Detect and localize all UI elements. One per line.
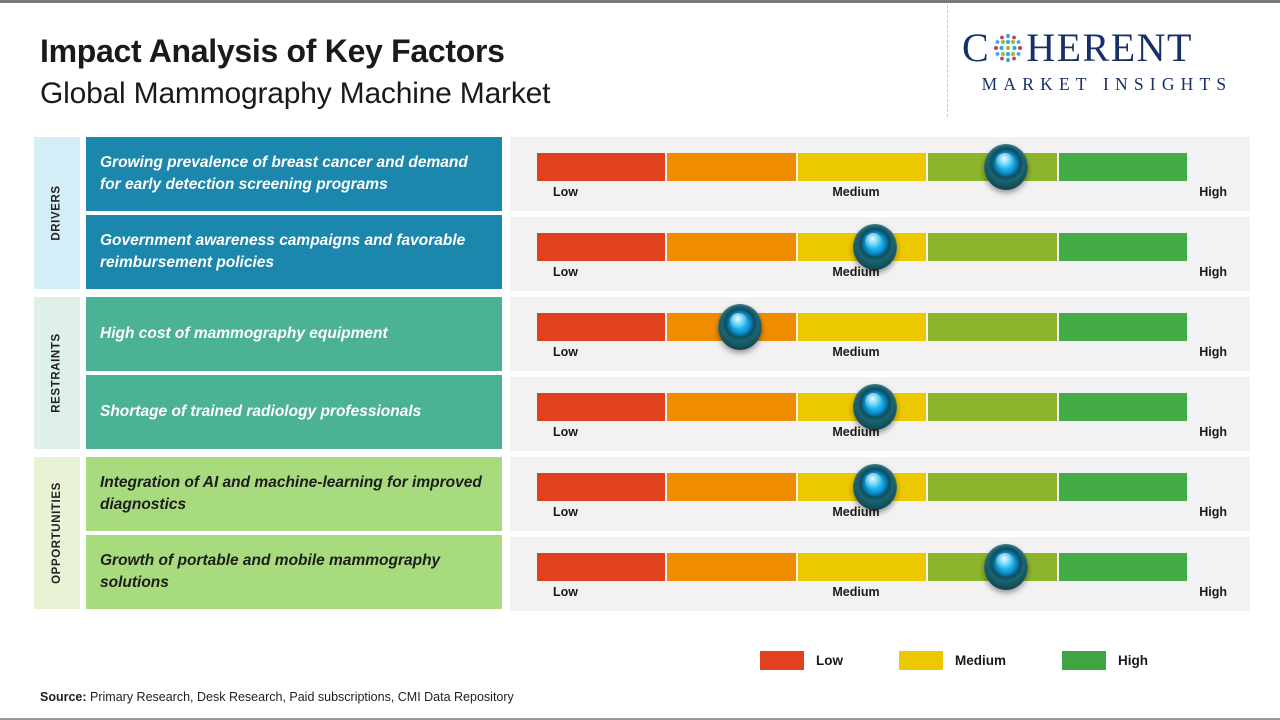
scale-label-high: High xyxy=(1199,345,1227,359)
gauge-segment-medium-high xyxy=(928,473,1058,501)
category-label-opportunities: OPPORTUNITIES xyxy=(51,482,63,584)
gauge-segment-medium-high xyxy=(928,393,1058,421)
factor-box: High cost of mammography equipment xyxy=(86,297,502,371)
gauge-segment-low xyxy=(537,233,667,261)
category-rail-opportunities: OPPORTUNITIES xyxy=(34,457,80,609)
logo-wordmark: C xyxy=(962,25,1262,71)
legend-item-high: High xyxy=(1062,651,1148,670)
category-label-drivers: DRIVERS xyxy=(51,185,63,240)
scale-label-high: High xyxy=(1199,185,1227,199)
gauge-segment-low-medium xyxy=(667,393,797,421)
gauge-scale-labels: Low Medium High xyxy=(537,505,1227,523)
scale-label-high: High xyxy=(1199,425,1227,439)
source-label: Source: xyxy=(40,690,87,704)
header: Impact Analysis of Key Factors Global Ma… xyxy=(0,3,1280,131)
scale-label-medium: Medium xyxy=(511,185,1201,199)
legend-swatch-medium xyxy=(899,651,943,670)
legend-item-low: Low xyxy=(760,651,843,670)
gauge-marker[interactable] xyxy=(853,464,897,510)
source-text: Primary Research, Desk Research, Paid su… xyxy=(87,690,514,704)
gauge-segment-low xyxy=(537,553,667,581)
gauge-segment-high xyxy=(1059,393,1187,421)
infographic-page: Impact Analysis of Key Factors Global Ma… xyxy=(0,0,1280,720)
category-label-restraints: RESTRAINTS xyxy=(51,333,63,412)
header-dashed-divider xyxy=(947,5,948,117)
gauge-segment-medium xyxy=(798,313,928,341)
gauge-marker[interactable] xyxy=(984,144,1028,190)
factor-text: Government awareness campaigns and favor… xyxy=(100,230,488,275)
impact-gauge-row: Low Medium High xyxy=(510,377,1250,451)
gauge-bar xyxy=(537,313,1187,341)
gauge-segment-low xyxy=(537,313,667,341)
legend-label-low: Low xyxy=(816,653,843,668)
scale-label-medium: Medium xyxy=(511,425,1201,439)
logo-tagline: MARKET INSIGHTS xyxy=(962,74,1252,95)
category-rail-restraints: RESTRAINTS xyxy=(34,297,80,449)
gauge-segment-medium-high xyxy=(928,233,1058,261)
factor-text: Growing prevalence of breast cancer and … xyxy=(100,152,488,197)
gauge-segment-low xyxy=(537,473,667,501)
gauge-segment-high xyxy=(1059,553,1187,581)
gauge-scale-labels: Low Medium High xyxy=(537,185,1227,203)
logo-word-right: HERENT xyxy=(1026,28,1193,68)
impact-gauge-row: Low Medium High xyxy=(510,137,1250,211)
globe-dots-icon xyxy=(991,31,1025,65)
legend: Low Medium High xyxy=(760,645,1210,675)
gauge-segment-high xyxy=(1059,233,1187,261)
gauge-segment-low-medium xyxy=(667,233,797,261)
scale-label-medium: Medium xyxy=(511,585,1201,599)
scale-label-medium: Medium xyxy=(511,505,1201,519)
gauge-segment-medium xyxy=(798,553,928,581)
page-title: Impact Analysis of Key Factors xyxy=(40,33,550,71)
scale-label-high: High xyxy=(1199,585,1227,599)
factor-text: Shortage of trained radiology profession… xyxy=(100,401,421,423)
legend-item-medium: Medium xyxy=(899,651,1006,670)
factor-text: Integration of AI and machine-learning f… xyxy=(100,472,488,517)
impact-gauge-row: Low Medium High xyxy=(510,457,1250,531)
gauge-segment-high xyxy=(1059,313,1187,341)
factor-text: Growth of portable and mobile mammograph… xyxy=(100,550,488,595)
scale-label-high: High xyxy=(1199,505,1227,519)
gauge-segment-high xyxy=(1059,473,1187,501)
title-block: Impact Analysis of Key Factors Global Ma… xyxy=(40,33,550,113)
factor-box: Shortage of trained radiology profession… xyxy=(86,375,502,449)
gauge-marker[interactable] xyxy=(853,384,897,430)
gauge-segment-medium-high xyxy=(928,313,1058,341)
gauge-marker[interactable] xyxy=(984,544,1028,590)
factor-box: Government awareness campaigns and favor… xyxy=(86,215,502,289)
legend-swatch-low xyxy=(760,651,804,670)
gauge-segment-low-medium xyxy=(667,473,797,501)
factor-box: Growth of portable and mobile mammograph… xyxy=(86,535,502,609)
gauge-segment-low xyxy=(537,393,667,421)
gauge-segment-low-medium xyxy=(667,153,797,181)
scale-label-medium: Medium xyxy=(511,345,1201,359)
logo-word-left: C xyxy=(962,28,990,68)
factor-box: Integration of AI and machine-learning f… xyxy=(86,457,502,531)
impact-gauge-row: Low Medium High xyxy=(510,537,1250,611)
gauge-segment-low xyxy=(537,153,667,181)
gauge-scale-labels: Low Medium High xyxy=(537,265,1227,283)
gauge-marker[interactable] xyxy=(853,224,897,270)
impact-gauge-row: Low Medium High xyxy=(510,297,1250,371)
legend-label-medium: Medium xyxy=(955,653,1006,668)
factor-box: Growing prevalence of breast cancer and … xyxy=(86,137,502,211)
gauge-segment-medium xyxy=(798,153,928,181)
company-logo: C xyxy=(962,25,1262,107)
gauge-scale-labels: Low Medium High xyxy=(537,585,1227,603)
gauge-scale-labels: Low Medium High xyxy=(537,345,1227,363)
gauge-bar xyxy=(537,553,1187,581)
impact-gauge-row: Low Medium High xyxy=(510,217,1250,291)
legend-swatch-high xyxy=(1062,651,1106,670)
gauge-scale-labels: Low Medium High xyxy=(537,425,1227,443)
scale-label-medium: Medium xyxy=(511,265,1201,279)
gauge-marker[interactable] xyxy=(718,304,762,350)
legend-label-high: High xyxy=(1118,653,1148,668)
gauge-bar xyxy=(537,153,1187,181)
gauge-segment-low-medium xyxy=(667,553,797,581)
page-subtitle: Global Mammography Machine Market xyxy=(40,75,550,113)
factor-text: High cost of mammography equipment xyxy=(100,323,388,345)
category-rail-drivers: DRIVERS xyxy=(34,137,80,289)
source-line: Source: Primary Research, Desk Research,… xyxy=(40,690,514,704)
gauge-segment-high xyxy=(1059,153,1187,181)
scale-label-high: High xyxy=(1199,265,1227,279)
impact-matrix: DRIVERS RESTRAINTS OPPORTUNITIES Growing… xyxy=(0,137,1280,615)
